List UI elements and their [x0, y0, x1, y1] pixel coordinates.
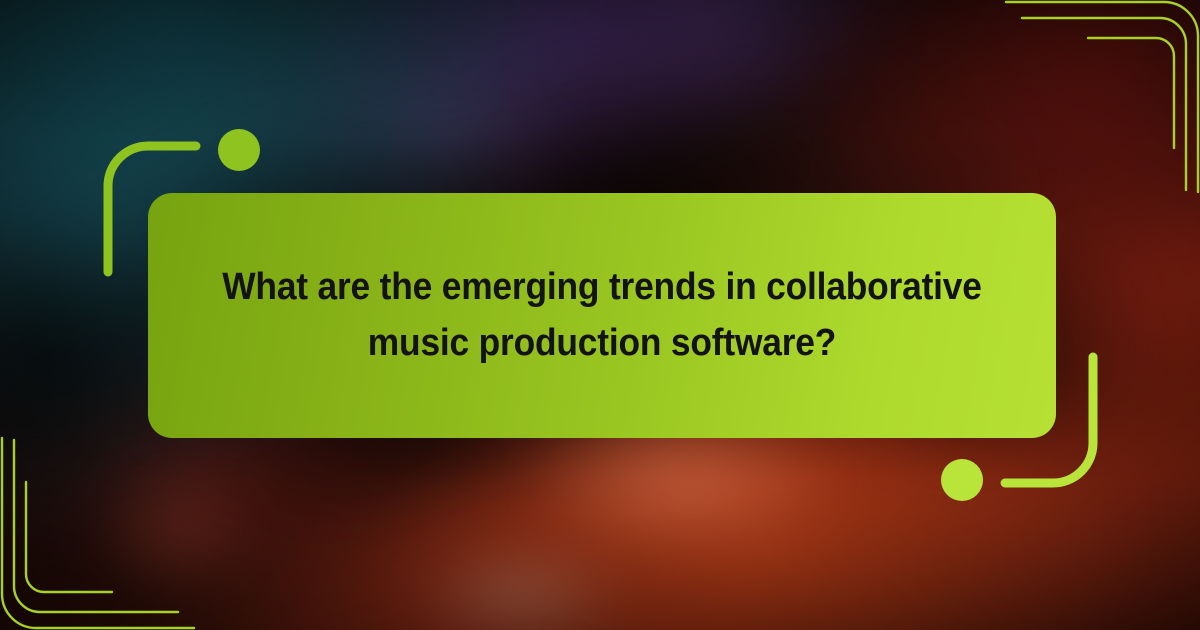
quote-text: What are the emerging trends in collabor…: [211, 260, 992, 370]
quote-card: What are the emerging trends in collabor…: [148, 193, 1056, 438]
social-card-canvas: What are the emerging trends in collabor…: [0, 0, 1200, 630]
